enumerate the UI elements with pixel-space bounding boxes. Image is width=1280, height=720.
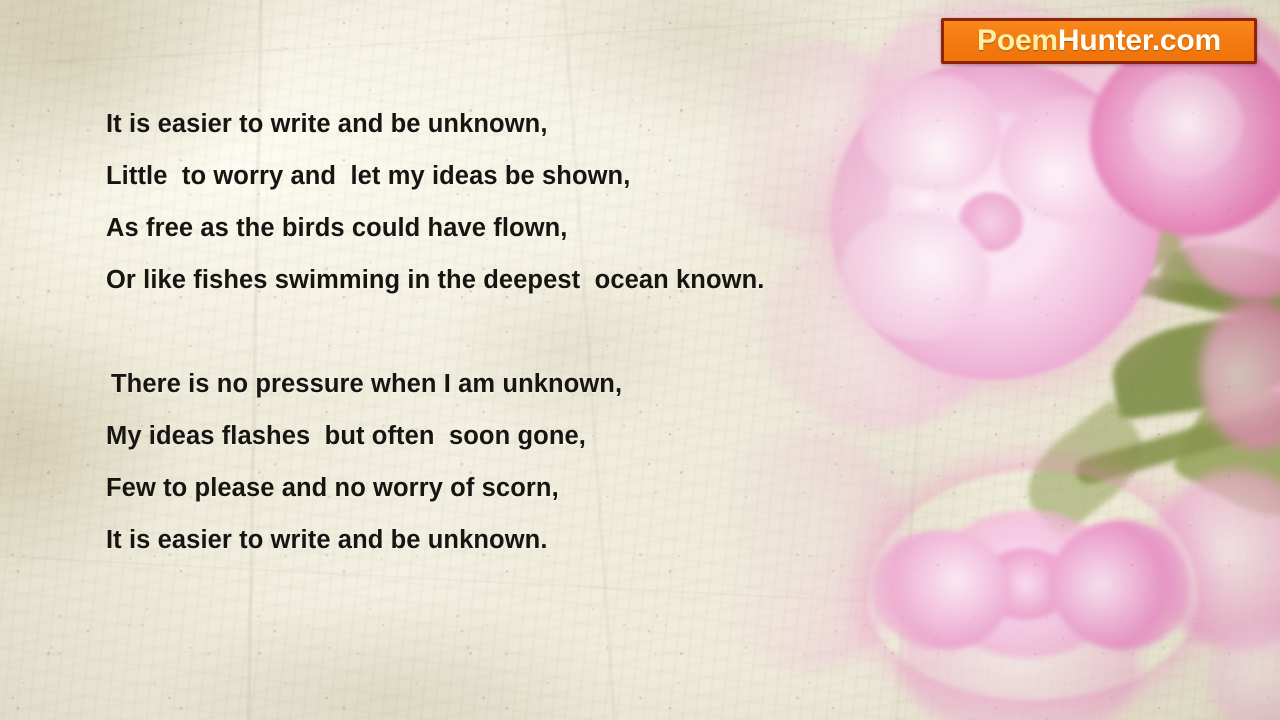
poem-body: It is easier to write and be unknown, Li… bbox=[106, 98, 966, 566]
poemhunter-logo-badge[interactable]: PoemHunter.com bbox=[941, 18, 1257, 64]
poem-line: It is easier to write and be unknown, bbox=[106, 98, 966, 150]
poem-image-card: It is easier to write and be unknown, Li… bbox=[0, 0, 1280, 720]
brand-word-hunter: Hunter bbox=[1058, 24, 1152, 57]
poem-line: There is no pressure when I am unknown, bbox=[106, 358, 966, 410]
poem-line: Little to worry and let my ideas be show… bbox=[106, 150, 966, 202]
stanza-separator bbox=[106, 306, 966, 358]
poem-line: My ideas flashes but often soon gone, bbox=[106, 410, 966, 462]
brand-wordmark: PoemHunter.com bbox=[977, 26, 1221, 56]
poem-line: As free as the birds could have flown, bbox=[106, 202, 966, 254]
poem-line: Few to please and no worry of scorn, bbox=[106, 462, 966, 514]
poem-line: It is easier to write and be unknown. bbox=[106, 514, 966, 566]
brand-word-tld: .com bbox=[1152, 24, 1221, 57]
brand-word-poem: Poem bbox=[977, 24, 1058, 57]
poem-line: Or like fishes swimming in the deepest o… bbox=[106, 254, 966, 306]
